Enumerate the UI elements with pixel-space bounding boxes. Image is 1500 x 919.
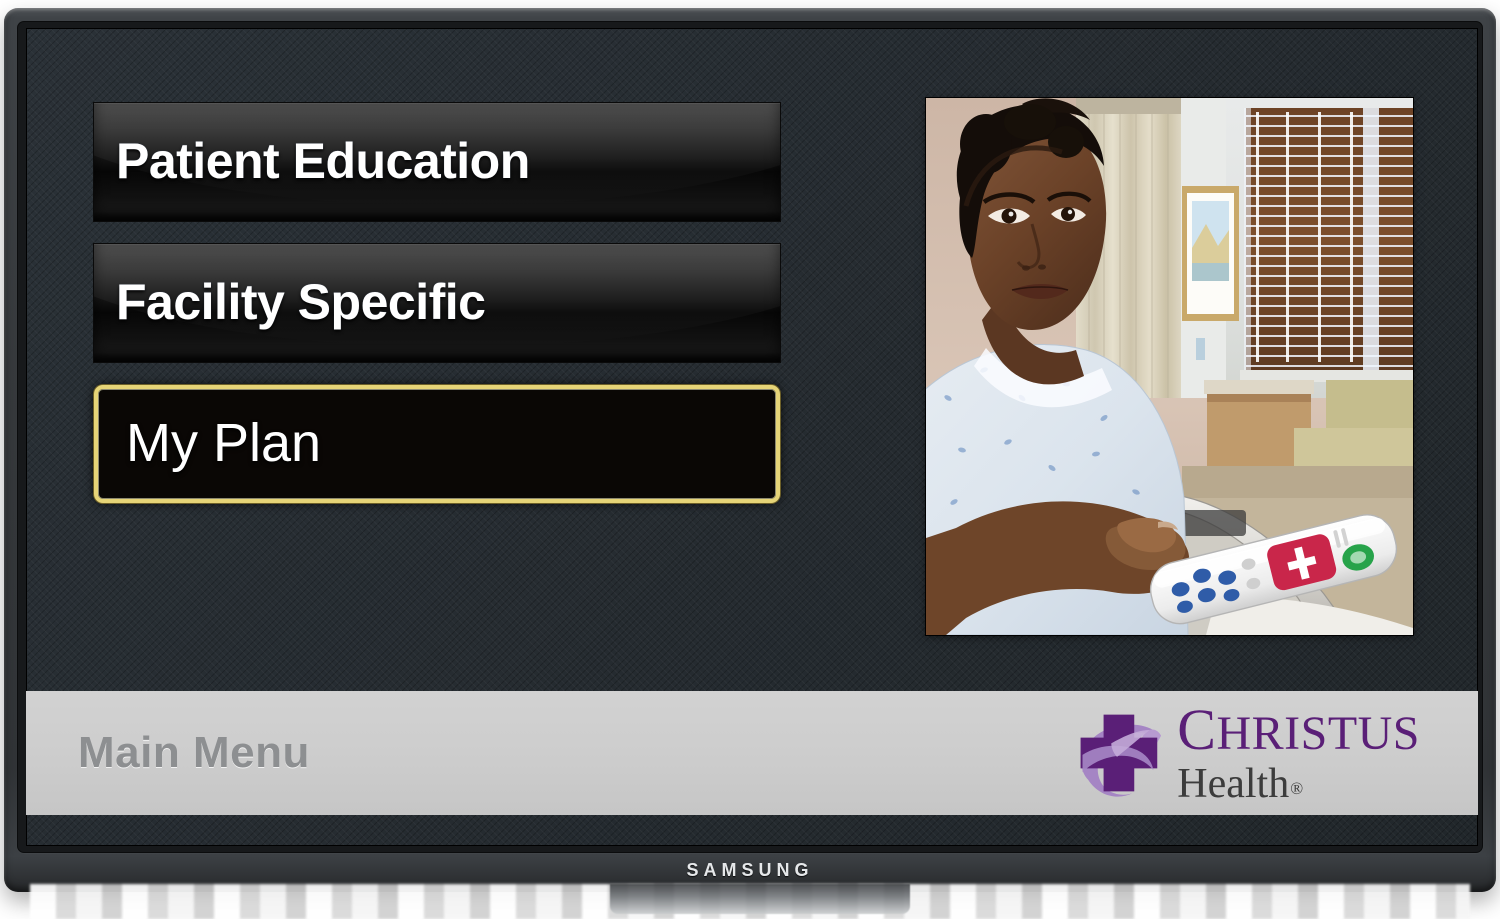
christus-cross-icon [1069,707,1165,799]
tv-stand-neck [610,884,910,914]
christus-health-logo: CHRISTUS Health® [1069,701,1420,805]
registered-trademark-icon: ® [1290,779,1303,798]
menu-item-my-plan[interactable]: My Plan [94,385,780,503]
menu-item-facility-specific[interactable]: Facility Specific [94,244,780,362]
christus-word-cap: C [1177,697,1216,762]
tv-screen: Patient Education Facility Specific My P… [26,28,1478,846]
christus-word-rest: HRISTUS [1216,707,1420,760]
christus-wordmark: CHRISTUS Health® [1177,701,1420,805]
samsung-television: Patient Education Facility Specific My P… [0,8,1500,896]
health-word: Health® [1177,763,1420,805]
health-word-text: Health [1177,761,1289,807]
menu-item-label: Facility Specific [116,273,485,331]
menu-item-patient-education[interactable]: Patient Education [94,103,780,221]
christus-word: CHRISTUS [1177,701,1420,759]
menu-item-label: My Plan [126,412,321,474]
patient-photo [926,98,1413,635]
main-menu-list: Patient Education Facility Specific My P… [94,103,780,526]
page-title: Main Menu [78,728,310,778]
menu-item-label: Patient Education [116,132,530,190]
status-bar: Main Menu CHRISTUS [26,691,1478,815]
